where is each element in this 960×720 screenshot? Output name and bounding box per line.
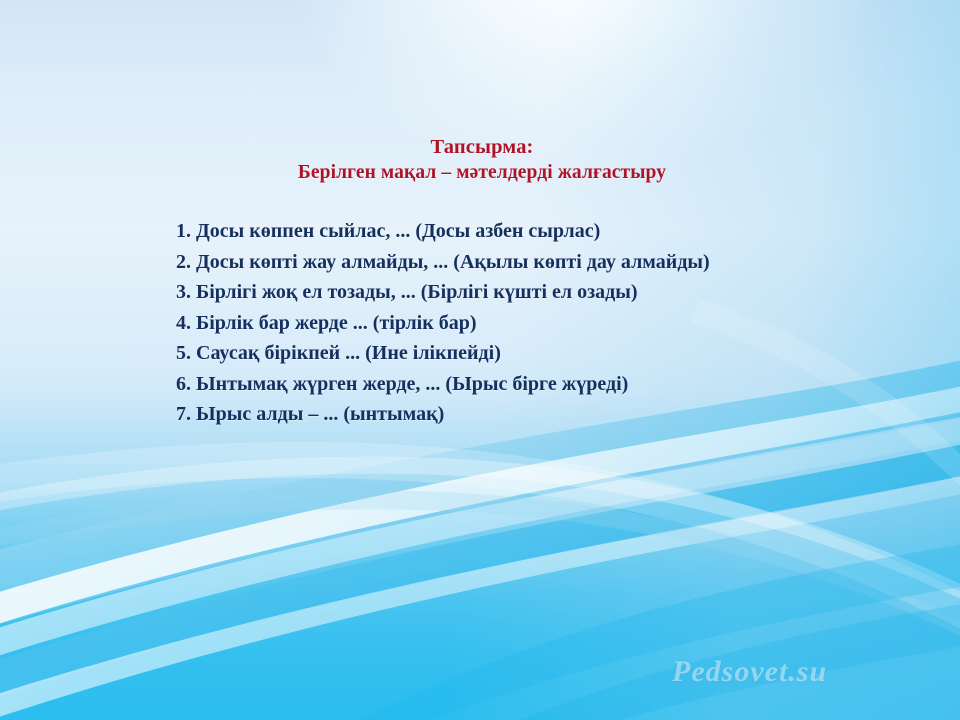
list-item: 6. Ынтымақ жүрген жерде, ... (Ырыс бірге… (176, 369, 788, 400)
list-item: 7. Ырыс алды – ... (ынтымақ) (176, 399, 788, 430)
proverb-list: 1. Досы көппен сыйлас, ... (Досы азбен с… (176, 216, 788, 430)
title-body-spacer (176, 186, 788, 216)
title-heading: Тапсырма: (176, 134, 788, 160)
list-item: 1. Досы көппен сыйлас, ... (Досы азбен с… (176, 216, 788, 247)
slide-content: Тапсырма: Берілген мақал – мәтелдерді жа… (176, 134, 788, 430)
slide-canvas: Тапсырма: Берілген мақал – мәтелдерді жа… (0, 0, 960, 720)
list-item: 4. Бірлік бар жерде ... (тірлік бар) (176, 308, 788, 339)
list-item: 2. Досы көпті жау алмайды, ... (Ақылы кө… (176, 247, 788, 278)
title-subheading: Берілген мақал – мәтелдерді жалғастыру (176, 160, 788, 186)
list-item: 5. Саусақ бірікпей ... (Ине ілікпейді) (176, 338, 788, 369)
list-item: 3. Бірлігі жоқ ел тозады, ... (Бірлігі к… (176, 277, 788, 308)
slide-title: Тапсырма: Берілген мақал – мәтелдерді жа… (176, 134, 788, 186)
